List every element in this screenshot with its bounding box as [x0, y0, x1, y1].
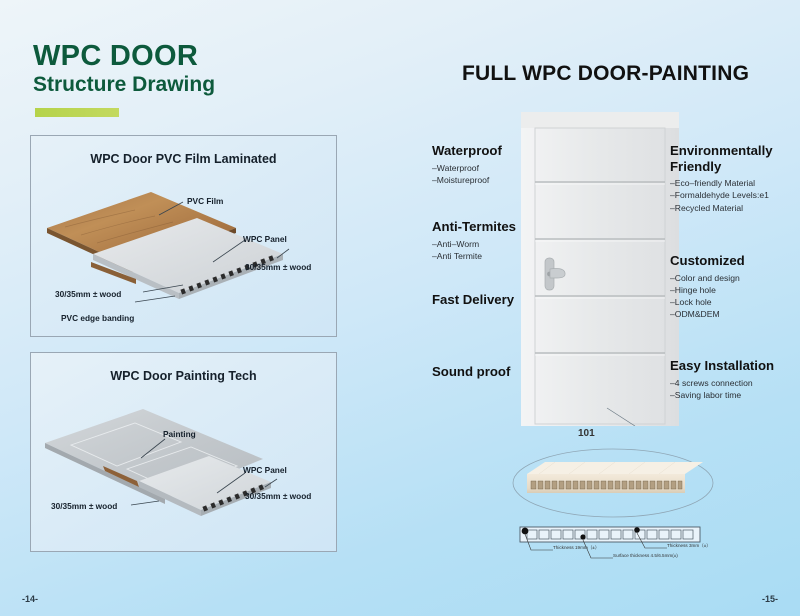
panel-painting-tech: WPC Door Painting Tech [30, 352, 337, 552]
label-wood-right-2: 30/35mm ± wood [245, 491, 311, 501]
label-pvc-edge-banding: PVC edge banding [61, 313, 134, 323]
title-sub: Structure Drawing [33, 74, 215, 96]
feature-item: –Anti Termite [432, 250, 516, 262]
feature-item: –Moistureproof [432, 174, 502, 186]
feature-item: –Formaldehyde Levels:e1 [670, 189, 782, 201]
label-surface-thickness: Surface thickness 4.5/6.5mm(±) [613, 553, 678, 558]
feature-customized: Customized –Color and design –Hinge hole… [670, 253, 745, 320]
page-number-right: -15- [762, 594, 778, 604]
feature-heading: Environmentally Friendly [670, 143, 782, 174]
label-wpc-panel-2: WPC Panel [243, 465, 287, 475]
label-wood-left-2: 30/35mm ± wood [51, 501, 117, 511]
pvc-laminate-diagram [31, 136, 336, 336]
feature-heading: Sound proof [432, 364, 510, 380]
feature-item: –4 screws connection [670, 377, 774, 389]
feature-heading: Fast Delivery [432, 292, 514, 308]
feature-item: –Hinge hole [670, 284, 745, 296]
painting-tech-diagram [31, 353, 336, 551]
feature-item: –Color and design [670, 272, 745, 284]
feature-heading: Waterproof [432, 143, 502, 159]
feature-item: –Lock hole [670, 296, 745, 308]
feature-heading: Easy Installation [670, 358, 774, 374]
label-wood-left: 30/35mm ± wood [55, 289, 121, 299]
label-wpc-panel: WPC Panel [243, 234, 287, 244]
feature-item: –Eco–friendly Material [670, 177, 782, 189]
feature-sound-proof: Sound proof [432, 364, 510, 380]
catalog-spread: WPC DOOR Structure Drawing WPC Door PVC … [0, 0, 800, 616]
panel-pvc-film-laminated: WPC Door PVC Film Laminated [30, 135, 337, 337]
feature-fast-delivery: Fast Delivery [432, 292, 514, 308]
left-page-title: WPC DOOR Structure Drawing [33, 42, 215, 96]
feature-item: –Recycled Material [670, 202, 782, 214]
door-illustration [515, 108, 685, 426]
accent-bar [35, 108, 119, 117]
label-wood-right: 30/35mm ± wood [245, 262, 311, 272]
label-thickness-total: Thickness 19mm（±） [553, 545, 599, 551]
feature-environmentally-friendly: Environmentally Friendly –Eco–friendly M… [670, 143, 782, 214]
feature-waterproof: Waterproof –Waterproof –Moistureproof [432, 143, 502, 186]
label-pvc-film: PVC Film [187, 196, 223, 206]
right-page-title: FULL WPC DOOR-PAINTING [462, 62, 749, 86]
feature-easy-installation: Easy Installation –4 screws connection –… [670, 358, 774, 401]
feature-item: –Anti–Worm [432, 238, 516, 250]
label-thickness-wall: Thickness 3mm（±） [667, 543, 711, 549]
page-number-left: -14- [22, 594, 38, 604]
door-model-number: 101 [578, 428, 595, 439]
feature-item: –ODM&DEM [670, 308, 745, 320]
feature-item: –Waterproof [432, 162, 502, 174]
feature-item: –Saving labor time [670, 389, 774, 401]
feature-anti-termites: Anti-Termites –Anti–Worm –Anti Termite [432, 219, 516, 262]
label-painting: Painting [163, 429, 196, 439]
feature-heading: Customized [670, 253, 745, 269]
feature-heading: Anti-Termites [432, 219, 516, 235]
title-main: WPC DOOR [33, 42, 215, 72]
